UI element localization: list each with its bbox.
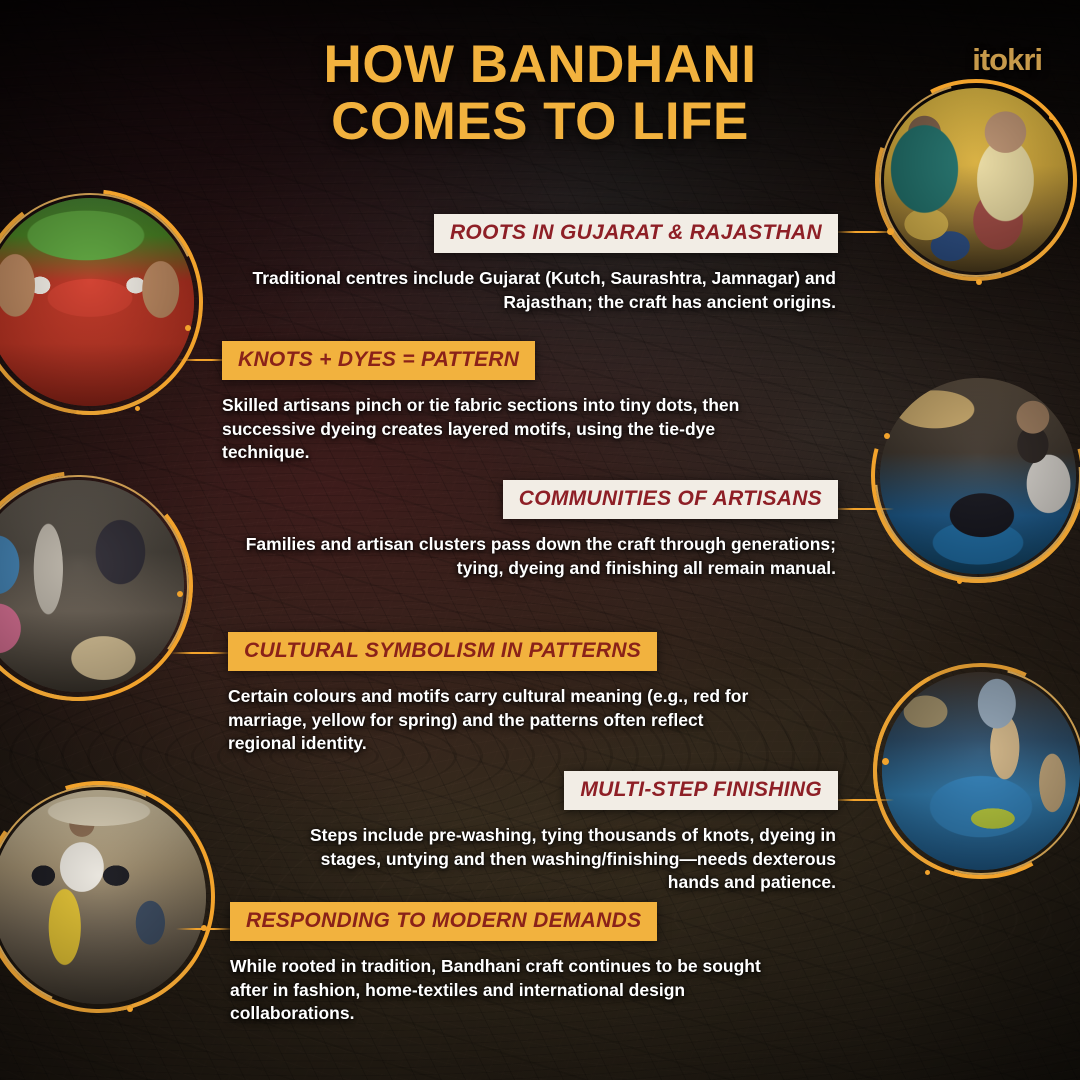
- connector-line-modern: [176, 928, 234, 930]
- section-heading-roots: ROOTS IN GUJARAT & RAJASTHAN: [434, 214, 838, 253]
- infographic-poster: HOW BANDHANI COMES TO LIFE itokri: [0, 0, 1080, 1080]
- section-heading-communities: COMMUNITIES OF ARTISANS: [503, 480, 838, 519]
- section-body-knots-dyes: Skilled artisans pinch or tie fabric sec…: [222, 394, 762, 465]
- section-heading-knots-dyes: KNOTS + DYES = PATTERN: [222, 341, 535, 380]
- photo-disc: [880, 378, 1076, 574]
- photo-disc: [0, 198, 194, 406]
- section-heading-finishing: MULTI-STEP FINISHING: [564, 771, 838, 810]
- section-knots-dyes: KNOTS + DYES = PATTERN Skilled artisans …: [222, 341, 762, 465]
- photo-shade: [880, 378, 1076, 574]
- photo-disc: [882, 672, 1080, 870]
- photo-hands-tying-red-cloth: [0, 198, 194, 406]
- photo-shade: [884, 88, 1068, 272]
- connector-line-communities: [832, 508, 894, 510]
- brand-logo-text: itokri: [972, 42, 1042, 78]
- section-body-finishing: Steps include pre-washing, tying thousan…: [300, 824, 838, 895]
- photo-disc: [0, 790, 206, 1004]
- section-modern-demands: RESPONDING TO MODERN DEMANDS While roote…: [230, 902, 790, 1026]
- photo-disc: [884, 88, 1068, 272]
- photo-indigo-dye-vat: [882, 672, 1080, 870]
- photo-artisan-yellow-cloth: [0, 790, 206, 1004]
- photo-shade: [0, 790, 206, 1004]
- section-body-communities: Families and artisan clusters pass down …: [244, 533, 838, 580]
- photo-women-knotting-fabric: [0, 480, 184, 692]
- section-symbolism: CULTURAL SYMBOLISM IN PATTERNS Certain c…: [228, 632, 768, 756]
- connector-line-roots: [834, 231, 896, 233]
- connector-line-finishing: [832, 799, 894, 801]
- section-body-modern-demands: While rooted in tradition, Bandhani craf…: [230, 955, 790, 1026]
- photo-dyer-blue-vat: [880, 378, 1076, 574]
- brand-logo[interactable]: itokri: [972, 42, 1042, 78]
- section-heading-symbolism: CULTURAL SYMBOLISM IN PATTERNS: [228, 632, 657, 671]
- photo-shade: [882, 672, 1080, 870]
- section-communities: COMMUNITIES OF ARTISANS Families and art…: [244, 480, 838, 580]
- section-roots: ROOTS IN GUJARAT & RAJASTHAN Traditional…: [248, 214, 838, 314]
- section-finishing: MULTI-STEP FINISHING Steps include pre-w…: [300, 771, 838, 895]
- photo-women-tying-bandhani: [884, 88, 1068, 272]
- section-body-symbolism: Certain colours and motifs carry cultura…: [228, 685, 768, 756]
- connector-line-symbolism: [170, 652, 232, 654]
- section-heading-modern-demands: RESPONDING TO MODERN DEMANDS: [230, 902, 657, 941]
- section-body-roots: Traditional centres include Gujarat (Kut…: [248, 267, 838, 314]
- photo-disc: [0, 480, 184, 692]
